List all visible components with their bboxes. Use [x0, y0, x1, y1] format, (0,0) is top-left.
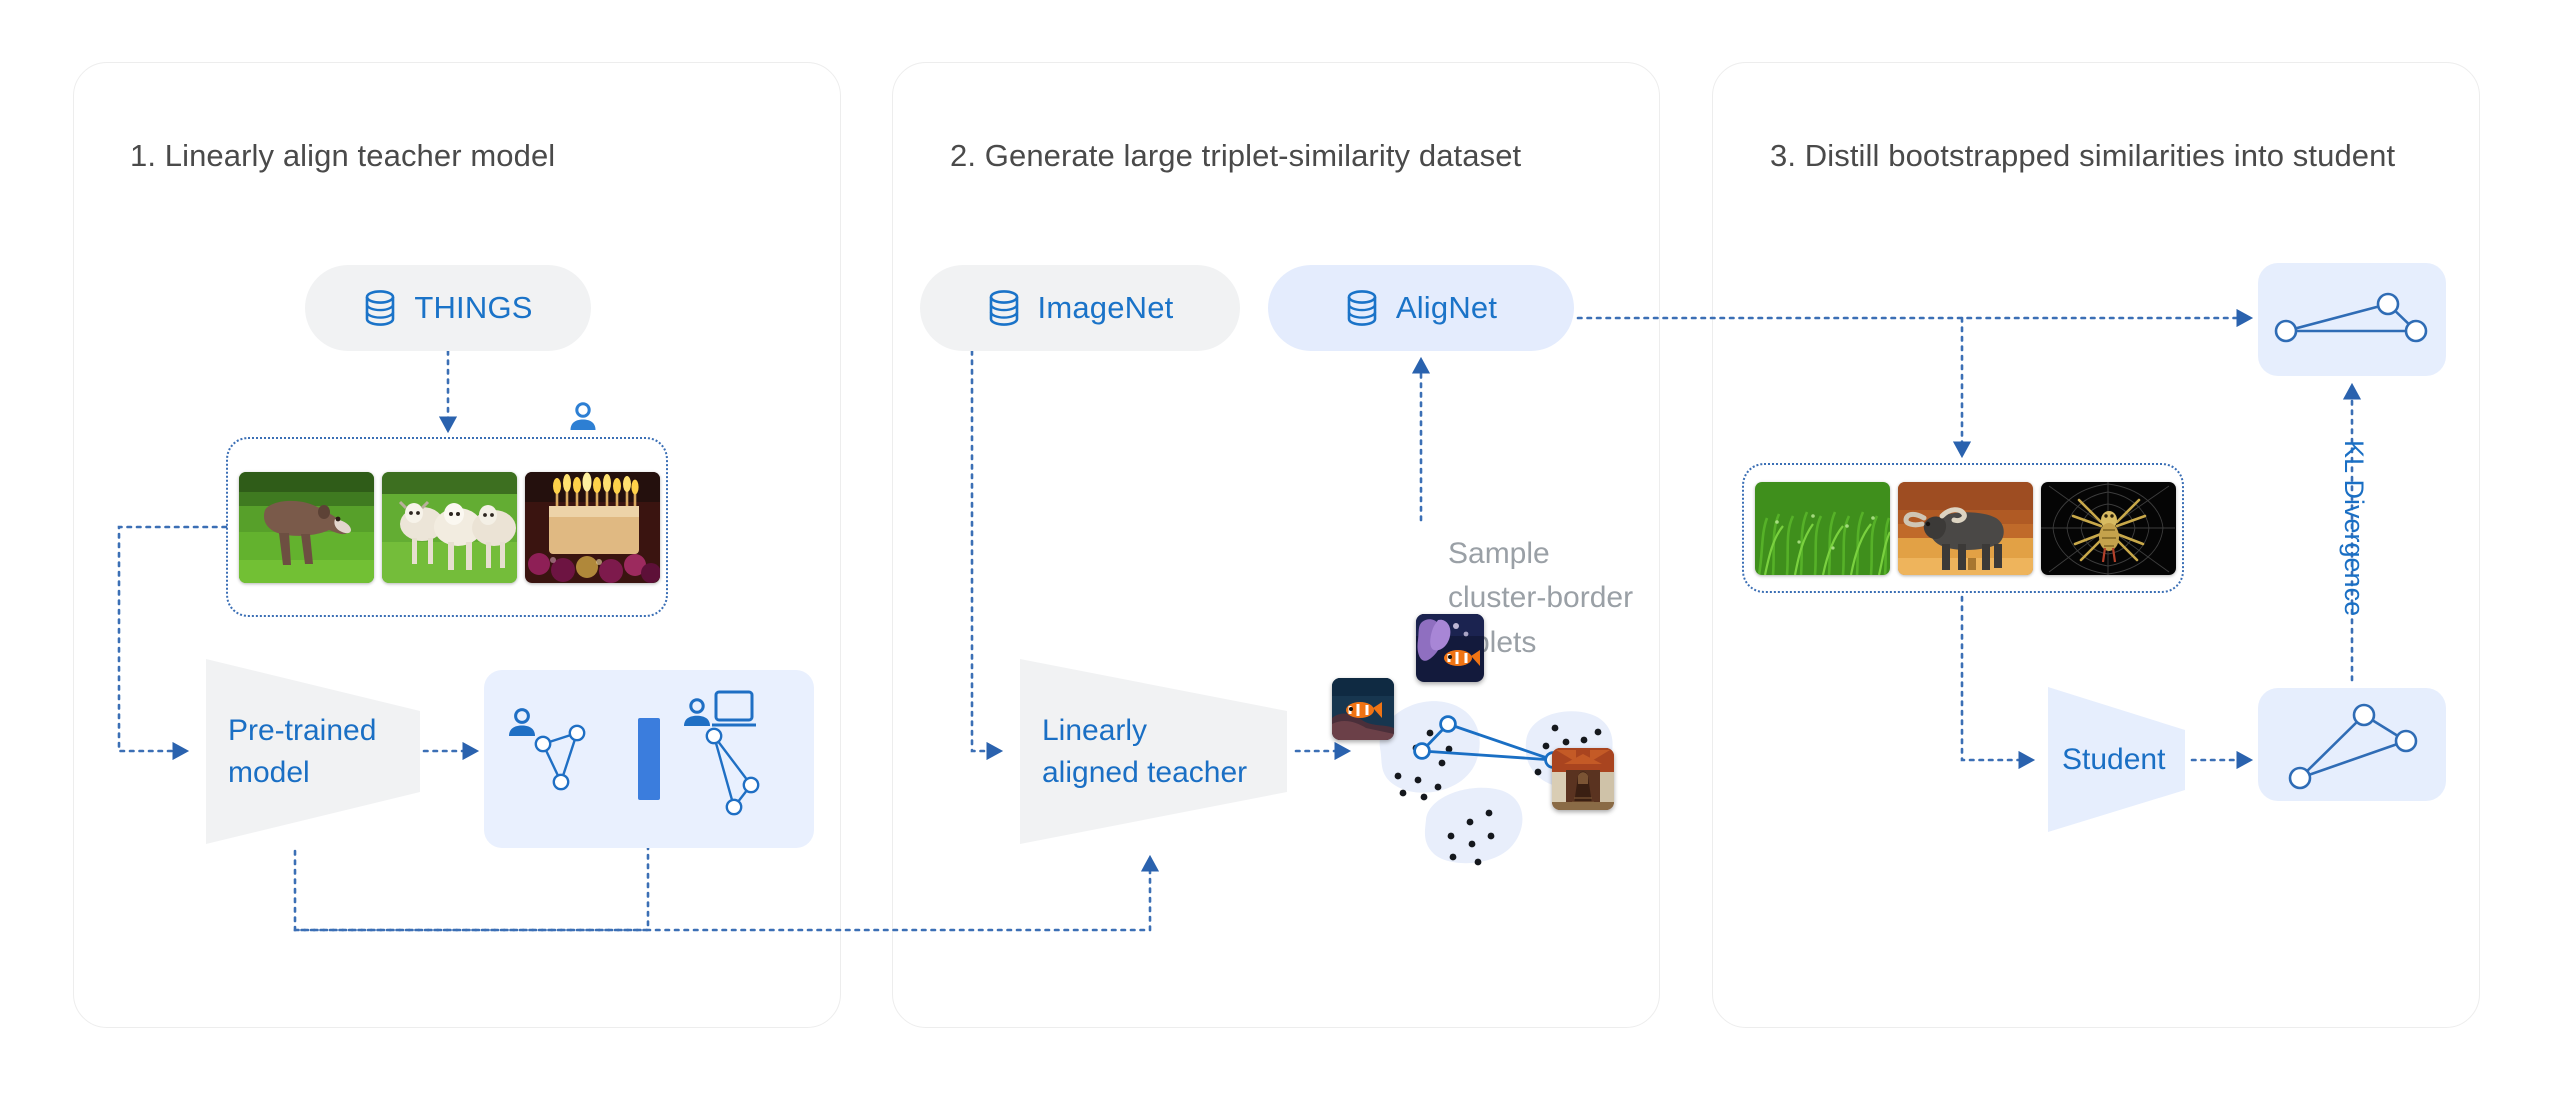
dataset-pill-alignet[interactable]: AligNet: [1268, 265, 1574, 351]
person-icon: [566, 400, 600, 434]
thumbnail-tapir-on-grass: [239, 472, 374, 583]
database-icon: [1345, 289, 1379, 327]
dataset-label-imagenet: ImageNet: [1038, 290, 1174, 326]
dataset-pill-imagenet[interactable]: ImageNet: [920, 265, 1240, 351]
model-linearly-aligned-teacher: Linearly aligned teacher: [1010, 655, 1291, 848]
model-label-pre-trained: Pre-trained model: [196, 710, 376, 793]
student-similarity-graph: [2258, 688, 2446, 801]
database-icon: [987, 289, 1021, 327]
person-icon: [509, 710, 535, 736]
thumbnail-water-buffalo: [1898, 482, 2033, 575]
model-label-linearly-aligned-teacher: Linearly aligned teacher: [1010, 710, 1247, 793]
panel-title-step-3: 3. Distill bootstrapped similarities int…: [1770, 138, 2395, 174]
graph-nodes-student: [2258, 688, 2446, 801]
dataset-pill-things[interactable]: THINGS: [305, 265, 591, 351]
annotation-kl-divergence: KL Divergence: [2338, 440, 2369, 616]
thumbnail-clownfish-reef-2: [1416, 614, 1484, 682]
model-student: Student: [2040, 684, 2188, 835]
linear-alignment-box: [484, 670, 814, 848]
thumbnail-clownfish-reef-1: [1332, 678, 1394, 740]
thumbnail-spider-on-web: [2041, 482, 2176, 575]
panel-title-step-2: 2. Generate large triplet-similarity dat…: [950, 138, 1521, 174]
thumbnail-grass-field: [1755, 482, 1890, 575]
dataset-label-things: THINGS: [414, 290, 532, 326]
cluster-blobs-and-triplet: [1350, 650, 1670, 870]
diagram-canvas: 1. Linearly align teacher model 2. Gener…: [0, 0, 2560, 1097]
model-label-student: Student: [2040, 739, 2165, 780]
cluster-scatter-plot: [1350, 650, 1670, 870]
graph-nodes-teacher: [2258, 263, 2446, 376]
image-triplet-things: [226, 437, 668, 617]
model-pre-trained: Pre-trained model: [196, 655, 424, 848]
linear-transform-bar: [638, 718, 660, 800]
dataset-label-alignet: AligNet: [1396, 290, 1497, 326]
image-triplet-alignet: [1742, 463, 2184, 593]
panel-title-step-1: 1. Linearly align teacher model: [130, 138, 555, 174]
person-laptop-icon: [684, 692, 756, 726]
thumbnail-birthday-cake: [525, 472, 660, 583]
teacher-similarity-graph: [2258, 263, 2446, 376]
database-icon: [363, 289, 397, 327]
thumbnail-sheep-in-field: [382, 472, 517, 583]
thumbnail-arched-corridor: [1552, 748, 1614, 810]
